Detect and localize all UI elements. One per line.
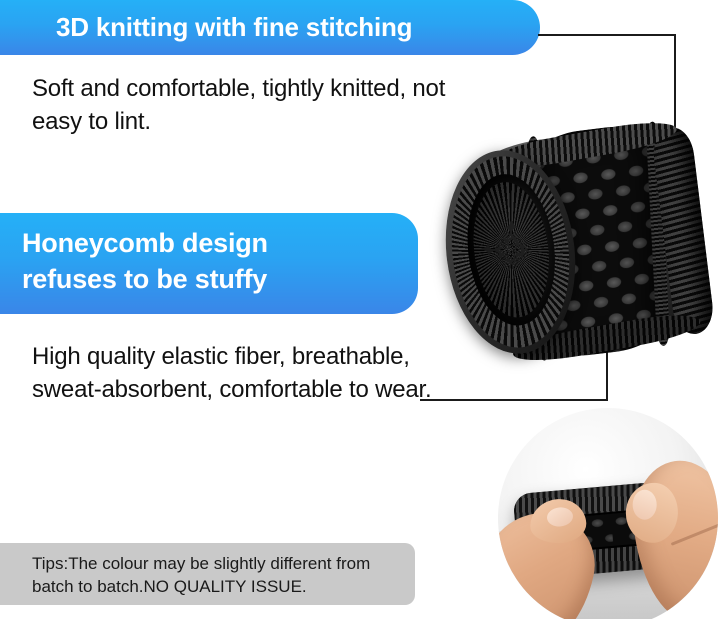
tips-text-line-1: Tips:The colour may be slightly differen…: [32, 552, 405, 575]
feature-description-1: Soft and comfortable, tightly knitted, n…: [32, 72, 472, 138]
feature-headline-text-2-line-1: Honeycomb design: [22, 225, 418, 261]
feature-headline-text-2-line-2: refuses to be stuffy: [22, 261, 418, 297]
feature-headline-text-1: 3D knitting with fine stitching: [56, 12, 412, 43]
feature-description-2: High quality elastic fiber, breathable, …: [32, 340, 442, 406]
band-illustration: [434, 121, 716, 367]
feature-headline-banner-2: Honeycomb design refuses to be stuffy: [0, 213, 418, 314]
feature-headline-banner-1: 3D knitting with fine stitching: [0, 0, 540, 55]
leader-line-1-vertical: [674, 34, 676, 132]
hands-stretching-photo: [498, 408, 718, 619]
tips-disclaimer-box: Tips:The colour may be slightly differen…: [0, 543, 415, 605]
leader-line-2-horizontal: [420, 399, 608, 401]
leader-line-1-horizontal: [538, 34, 676, 36]
right-hand-thumbnail: [633, 490, 657, 520]
tips-text-line-2: batch to batch.NO QUALITY ISSUE.: [32, 575, 405, 598]
infographic-page: 3D knitting with fine stitching Soft and…: [0, 0, 720, 619]
product-band-photo: [432, 126, 716, 370]
right-hand-crease: [671, 523, 718, 546]
